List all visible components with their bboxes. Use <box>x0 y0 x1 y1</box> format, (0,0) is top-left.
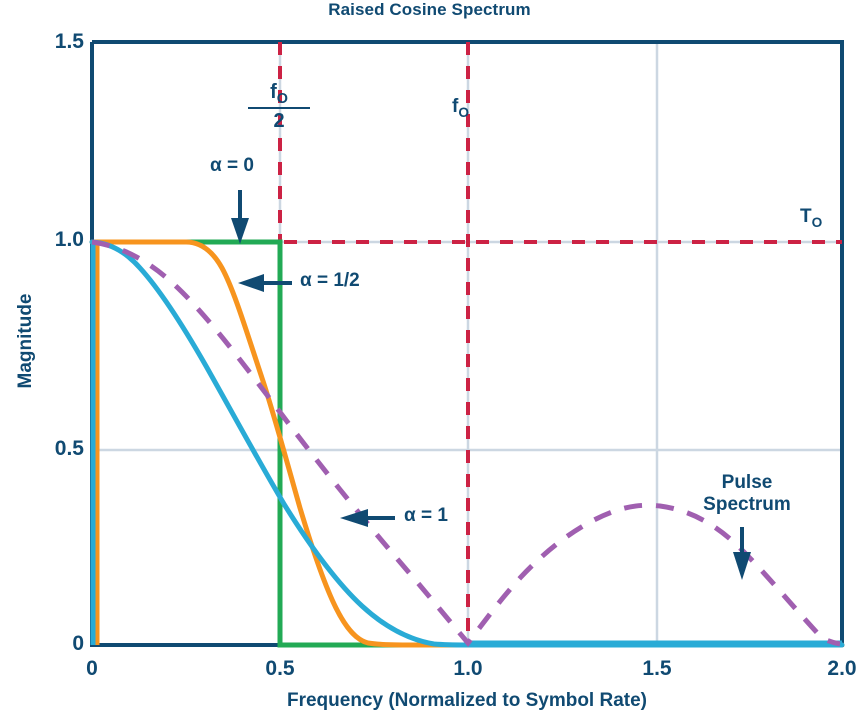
annotation-f0-half-numerator-sub: O <box>277 91 288 107</box>
annotation-f0-half: fO 2 <box>248 82 310 131</box>
annotation-f0: fO <box>452 96 469 120</box>
annotation-alpha-0: α = 0 <box>210 155 254 177</box>
annotation-f0-half-numerator: fO <box>248 82 310 109</box>
annotation-alpha-1: α = 1 <box>404 505 448 527</box>
plot-svg <box>0 0 859 722</box>
annotation-alpha-0-label: α = 0 <box>210 155 254 176</box>
annotation-t0-text: T <box>800 206 812 227</box>
annotation-alpha-1-label: α = 1 <box>404 505 448 526</box>
annotation-f0-half-denominator: 2 <box>248 109 310 131</box>
annotation-t0-sub: O <box>812 215 823 230</box>
series-pulse-spectrum <box>92 242 840 644</box>
annotation-alpha-half: α = 1/2 <box>300 270 360 292</box>
annotation-pulse-spectrum-line2: Spectrum <box>692 494 802 516</box>
arrow-head-pulse-spectrum <box>733 552 751 580</box>
annotation-pulse-spectrum: Pulse Spectrum <box>692 472 802 516</box>
chart-container: Raised Cosine Spectrum 1.5 1.0 0.5 0 0 0… <box>0 0 859 722</box>
annotation-f0-half-numerator-text: f <box>270 81 277 103</box>
annotation-f0-sub: O <box>458 105 469 120</box>
arrow-head-alpha-1 <box>340 509 368 527</box>
annotation-t0: TO <box>800 206 822 230</box>
annotation-pulse-spectrum-line1: Pulse <box>692 472 802 494</box>
annotation-alpha-half-label: α = 1/2 <box>300 270 360 291</box>
arrow-head-alpha-half <box>238 274 264 292</box>
